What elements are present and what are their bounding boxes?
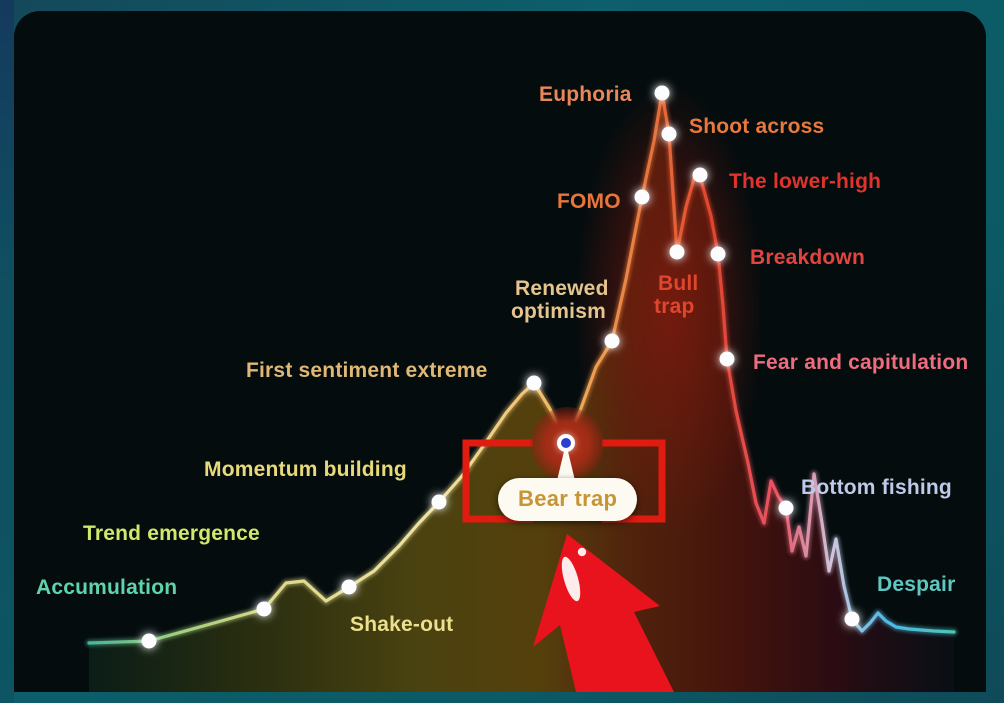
label-renewed-optimism-line2: optimism xyxy=(511,301,606,322)
marker-the-lower-high xyxy=(693,168,708,183)
label-the-lower-high: The lower-high xyxy=(729,171,881,192)
marker-breakdown xyxy=(711,247,726,262)
arrow-highlight-dot xyxy=(578,548,586,556)
marker-fomo xyxy=(635,190,650,205)
label-shoot-across: Shoot across xyxy=(689,116,824,137)
marker-fear-and-capitulation xyxy=(720,352,735,367)
bear-trap-marker-dot[interactable] xyxy=(557,434,575,452)
label-momentum-building: Momentum building xyxy=(204,459,407,480)
marker-bottom-fishing xyxy=(779,501,794,516)
label-fear-and-capitulation: Fear and capitulation xyxy=(753,352,968,373)
label-fomo: FOMO xyxy=(557,191,621,212)
label-renewed-optimism-line1: Renewed xyxy=(515,278,609,299)
marker-bull-trap xyxy=(670,245,685,260)
marker-first-sentiment-extreme xyxy=(527,376,542,391)
label-trend-emergence: Trend emergence xyxy=(83,523,260,544)
marker-renewed-optimism xyxy=(605,334,620,349)
marker-trend-emergence xyxy=(257,602,272,617)
label-first-sentiment-extreme: First sentiment extreme xyxy=(246,360,488,381)
marker-accumulation xyxy=(142,634,157,649)
marker-momentum-building xyxy=(432,495,447,510)
screenshot-frame: Bear trap Accumulation Trend emergence M… xyxy=(0,0,1004,703)
marker-despair xyxy=(845,612,860,627)
label-bull-trap-line2: trap xyxy=(654,296,694,317)
label-accumulation: Accumulation xyxy=(36,577,177,598)
label-despair: Despair xyxy=(877,574,955,595)
label-euphoria: Euphoria xyxy=(539,84,632,105)
chart-panel: Bear trap Accumulation Trend emergence M… xyxy=(14,11,986,692)
label-shake-out: Shake-out xyxy=(350,614,453,635)
label-bottom-fishing: Bottom fishing xyxy=(801,477,952,498)
label-breakdown: Breakdown xyxy=(750,247,865,268)
label-bull-trap-line1: Bull xyxy=(658,273,698,294)
frame-left-edge xyxy=(0,0,14,703)
marker-euphoria xyxy=(655,86,670,101)
bear-trap-callout[interactable]: Bear trap xyxy=(498,478,637,521)
marker-shake-out xyxy=(342,580,357,595)
marker-shoot-across xyxy=(662,127,677,142)
